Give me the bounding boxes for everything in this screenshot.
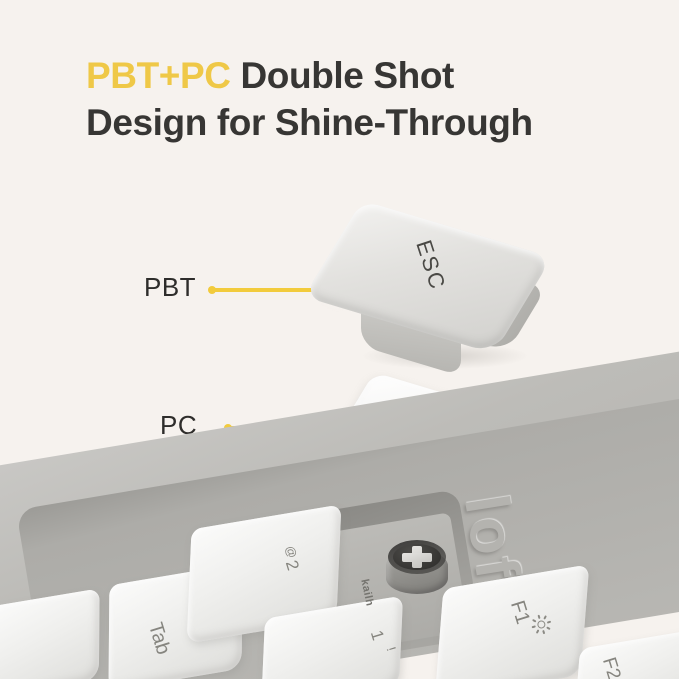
sun-ray xyxy=(542,630,545,634)
page-headline: PBT+PC Double Shot Design for Shine-Thro… xyxy=(86,52,626,147)
switch-socket[interactable]: kailh xyxy=(386,540,450,596)
headline-accent: PBT+PC xyxy=(86,55,231,96)
sun-core xyxy=(536,619,546,629)
sun-ray xyxy=(543,615,547,619)
sun-ray xyxy=(537,615,540,619)
headline-line1-rest: Double Shot xyxy=(231,55,454,96)
keycap-grave[interactable] xyxy=(0,588,100,679)
product-marketing-image: PBT+PC Double Shot Design for Shine-Thro… xyxy=(0,0,679,679)
sun-ray xyxy=(547,621,551,624)
sun-ray xyxy=(532,619,536,623)
sun-ray xyxy=(536,629,540,633)
sun-ray xyxy=(546,626,550,630)
leader-dot-start-pbt xyxy=(208,286,216,294)
sun-ray xyxy=(532,625,536,628)
callout-label-pbt: PBT xyxy=(144,272,196,303)
headline-line2: Design for Shine-Through xyxy=(86,102,533,143)
switch-cross-stem xyxy=(402,546,432,568)
pbt-keycap: ESC xyxy=(315,215,545,365)
